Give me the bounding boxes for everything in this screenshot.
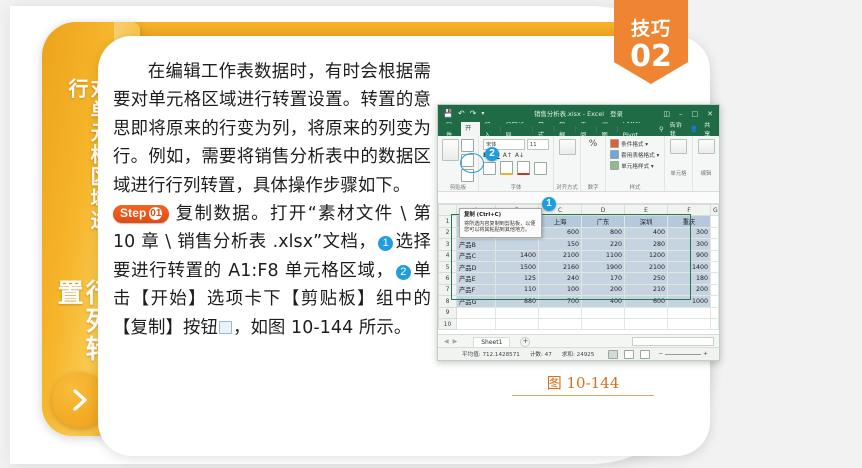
- cell-G10[interactable]: [711, 318, 719, 329]
- col-header-F[interactable]: F: [668, 205, 711, 216]
- cell-A10[interactable]: [457, 318, 496, 329]
- cell-G7[interactable]: [711, 284, 719, 295]
- step-badge-number: 01: [149, 207, 162, 220]
- cell-G9[interactable]: [711, 307, 719, 318]
- cell-C2[interactable]: 600: [539, 227, 582, 238]
- tip-number: 02: [614, 42, 688, 72]
- cell-C4[interactable]: 2100: [539, 250, 582, 261]
- excel-document-title: 销售分析表.xlsx - Excel 登录: [438, 109, 719, 118]
- intro-paragraph: 在编辑工作表数据时，有时会根据需要对单元格区域进行转置设置。转置的意思即将原来的…: [113, 58, 431, 200]
- col-header-D[interactable]: D: [582, 205, 625, 216]
- cell-C1[interactable]: 上海: [539, 216, 582, 227]
- cell-E9[interactable]: [625, 307, 668, 318]
- cell-D2[interactable]: 800: [582, 227, 625, 238]
- decrease-font-icon[interactable]: A↓: [515, 152, 524, 159]
- row-header-7[interactable]: 7: [439, 284, 457, 295]
- cell-D5[interactable]: 1900: [582, 261, 625, 272]
- excel-title-bar: 💾 ↶ ↷ ▾ 销售分析表.xlsx - Excel 登录 ◫ – □ ✕: [438, 105, 719, 122]
- cell-D8[interactable]: 400: [582, 296, 625, 307]
- step-marker-2: 2: [396, 265, 411, 280]
- ribbon-group-clipboard-label: 剪贴板: [438, 183, 478, 191]
- table-row[interactable]: 6 产品E 125 240 170 250 180: [439, 273, 719, 284]
- editing-icon[interactable]: [698, 139, 715, 154]
- tooltip-title: 复制 (Ctrl+C): [464, 212, 537, 219]
- share-icon: 👤: [690, 125, 698, 133]
- cell-A7[interactable]: 产品F: [457, 284, 496, 295]
- article-body: 在编辑工作表数据时，有时会根据需要对单元格区域进行转置设置。转置的意思即将原来的…: [113, 58, 431, 342]
- horizontal-scrollbar[interactable]: [632, 337, 714, 346]
- cell-B7[interactable]: 110: [496, 284, 539, 295]
- table-row[interactable]: 9: [439, 307, 719, 318]
- cell-B10[interactable]: [496, 318, 539, 329]
- cell-F8[interactable]: 1000: [668, 296, 711, 307]
- format-as-table-icon: [610, 150, 619, 159]
- excel-signin-label[interactable]: 登录: [610, 110, 623, 118]
- cell-E5[interactable]: 2100: [625, 261, 668, 272]
- tip-label: 技巧: [614, 14, 688, 41]
- copy-button-highlight-ring: [460, 153, 484, 173]
- zoom-track[interactable]: [665, 354, 701, 355]
- figure-caption-text: 图 10-144: [547, 374, 620, 392]
- font-color-icon[interactable]: [517, 161, 530, 175]
- step-paragraph: Step01复制数据。打开“素材文件 \ 第 10 章 \ 销售分析表 .xls…: [113, 200, 431, 342]
- cut-icon[interactable]: [461, 139, 474, 152]
- cell-D3[interactable]: 220: [582, 239, 625, 250]
- ribbon-group-cells-label: 单元格: [665, 169, 692, 177]
- cell-G1[interactable]: [711, 216, 719, 227]
- col-header-G[interactable]: G: [711, 205, 719, 216]
- callout-2: 2: [485, 147, 499, 161]
- ribbon-tab-strip[interactable]: 文件 开始 插入 | 页面布局 | 公式 | 数据 | 审阅 | 视图 | Po…: [438, 122, 719, 136]
- page-layout-icon[interactable]: [624, 350, 634, 359]
- formula-bar[interactable]: [438, 192, 719, 204]
- cell-B8[interactable]: 880: [496, 296, 539, 307]
- increase-font-icon[interactable]: A↑: [503, 152, 512, 159]
- cell-F6[interactable]: 180: [668, 273, 711, 284]
- cell-C7[interactable]: 100: [539, 284, 582, 295]
- cell-E10[interactable]: [625, 318, 668, 329]
- cell-A8[interactable]: 产品G: [457, 296, 496, 307]
- cell-E3[interactable]: 280: [625, 239, 668, 250]
- cell-F2[interactable]: 300: [668, 227, 711, 238]
- row-header-4[interactable]: 4: [439, 250, 457, 261]
- row-header-8[interactable]: 8: [439, 296, 457, 307]
- row-header-6[interactable]: 6: [439, 273, 457, 284]
- ribbon-group-editing: 编辑: [693, 136, 719, 191]
- phonetic-icon[interactable]: [534, 162, 547, 175]
- cell-B9[interactable]: [496, 307, 539, 318]
- cell-G8[interactable]: [711, 296, 719, 307]
- cell-C8[interactable]: 700: [539, 296, 582, 307]
- sheet-tab-sheet1[interactable]: Sheet1: [473, 337, 510, 347]
- step-badge-text: Step: [120, 206, 146, 220]
- table-row[interactable]: 10: [439, 318, 719, 329]
- cell-G3[interactable]: [711, 239, 719, 250]
- table-row[interactable]: 5 产品D 1500 2160 1900 2100 1400: [439, 261, 719, 272]
- status-sum: 求和: 24925: [552, 350, 595, 358]
- cell-A6[interactable]: 产品E: [457, 273, 496, 284]
- tooltip-text: 将所选内容复制到剪贴板，以便您可以将其粘贴到其他地方。: [464, 221, 537, 234]
- cell-A4[interactable]: 产品C: [457, 250, 496, 261]
- cell-A5[interactable]: 产品D: [457, 261, 496, 272]
- row-header-2[interactable]: 2: [439, 227, 457, 238]
- tab-home[interactable]: 开始: [461, 122, 480, 136]
- normal-view-icon[interactable]: [608, 350, 618, 359]
- status-count: 计数: 47: [520, 350, 552, 358]
- select-all-corner[interactable]: [439, 205, 457, 216]
- ribbon-group-cells: 单元格: [665, 136, 693, 191]
- cell-D7[interactable]: 200: [582, 284, 625, 295]
- cell-D9[interactable]: [582, 307, 625, 318]
- tell-me-icon: ⚲: [659, 126, 664, 133]
- col-header-E[interactable]: E: [625, 205, 668, 216]
- cell-D10[interactable]: [582, 318, 625, 329]
- ribbon-group-font: 宋体 11 B I U A↑ A↓: [479, 136, 554, 191]
- cell-G6[interactable]: [711, 273, 719, 284]
- ribbon-group-alignment: 对齐方式: [554, 136, 581, 191]
- step-badge: Step01: [113, 205, 169, 223]
- conditional-formatting-button[interactable]: 条件格式 ▾: [610, 139, 660, 148]
- cell-G5[interactable]: [711, 261, 719, 272]
- cell-styles-button[interactable]: 单元格样式 ▾: [610, 161, 660, 170]
- table-row[interactable]: 8 产品G 880 700 400 600 1000: [439, 296, 719, 307]
- ribbon-group-alignment-label: 对齐方式: [554, 183, 580, 191]
- ribbon-group-styles-label: 样式: [606, 183, 664, 191]
- cell-E6[interactable]: 250: [625, 273, 668, 284]
- chevron-right-icon: [69, 388, 91, 412]
- cell-B4[interactable]: 1400: [496, 250, 539, 261]
- copy-tooltip: 复制 (Ctrl+C) 将所选内容复制到剪贴板，以便您可以将其粘贴到其他地方。: [459, 208, 542, 238]
- ribbon-group-styles: 条件格式 ▾ 套用表格格式 ▾ 单元格样式 ▾ 样式: [606, 136, 665, 191]
- table-row[interactable]: 3 产品B 150 220 280 300: [439, 239, 719, 250]
- cell-C9[interactable]: [539, 307, 582, 318]
- cell-F9[interactable]: [668, 307, 711, 318]
- ribbon-group-number: % 数字: [581, 136, 606, 191]
- sheet-nav-next-icon[interactable]: ▶: [449, 338, 458, 345]
- cell-B6[interactable]: 125: [496, 273, 539, 284]
- borders-icon[interactable]: [483, 162, 496, 175]
- cell-B3[interactable]: [496, 239, 539, 250]
- cell-F7[interactable]: 200: [668, 284, 711, 295]
- percent-style-icon[interactable]: %: [589, 139, 598, 149]
- cell-F4[interactable]: 900: [668, 250, 711, 261]
- cell-A9[interactable]: [457, 307, 496, 318]
- table-row[interactable]: 7 产品F 110 100 200 210 200: [439, 284, 719, 295]
- excel-window-screenshot: 💾 ↶ ↷ ▾ 销售分析表.xlsx - Excel 登录 ◫ – □ ✕ 文件…: [437, 104, 720, 361]
- zoom-slider[interactable]: − +: [658, 351, 707, 357]
- cell-C10[interactable]: [539, 318, 582, 329]
- cell-F1[interactable]: 重庆: [668, 216, 711, 227]
- row-header-5[interactable]: 5: [439, 261, 457, 272]
- ribbon-group-number-label: 数字: [581, 183, 605, 191]
- cell-styles-icon: [610, 161, 619, 170]
- copy-icon: [219, 321, 232, 334]
- cell-D1[interactable]: 广东: [582, 216, 625, 227]
- worksheet-grid[interactable]: A B C D E F G 1 上海 广东 深圳 重庆: [438, 204, 719, 330]
- alignment-icon[interactable]: [559, 139, 576, 155]
- cell-C6[interactable]: 240: [539, 273, 582, 284]
- font-size-select[interactable]: 11: [527, 139, 549, 150]
- ribbon-group-editing-label: 编辑: [693, 169, 719, 177]
- cell-D6[interactable]: 170: [582, 273, 625, 284]
- status-bar: 平均值: 712.1428571 计数: 47 求和: 24925 − +: [438, 347, 719, 360]
- cell-A3[interactable]: 产品B: [457, 239, 496, 250]
- zoom-out-button[interactable]: −: [658, 351, 663, 357]
- sheet-tab-bar[interactable]: ◀ ▶ Sheet1 +: [438, 334, 719, 348]
- cell-F3[interactable]: 300: [668, 239, 711, 250]
- step-marker-1: 1: [378, 236, 393, 251]
- zoom-in-button[interactable]: +: [703, 351, 708, 357]
- cell-C5[interactable]: 2160: [539, 261, 582, 272]
- format-as-table-button[interactable]: 套用表格格式 ▾: [610, 150, 660, 159]
- cell-G2[interactable]: [711, 227, 719, 238]
- cell-E8[interactable]: 600: [625, 296, 668, 307]
- sheet-nav-prev-icon[interactable]: ◀: [438, 338, 449, 345]
- page-root: 对单元格区域进行 行列转置 技巧 02 在编辑工作表数据时，有时会根据需要对单元…: [0, 0, 862, 468]
- cells-icon[interactable]: [670, 139, 687, 154]
- table-row[interactable]: 4 产品C 1400 2100 1100 1200 900: [439, 250, 719, 261]
- caption-underline: [512, 395, 654, 396]
- excel-title-text: 销售分析表.xlsx - Excel: [534, 110, 604, 118]
- fill-color-icon[interactable]: [500, 161, 513, 175]
- row-header-10[interactable]: 10: [439, 318, 457, 329]
- row-header-9[interactable]: 9: [439, 307, 457, 318]
- cell-E7[interactable]: 210: [625, 284, 668, 295]
- cell-G4[interactable]: [711, 250, 719, 261]
- callout-1: 1: [542, 197, 556, 211]
- page-break-icon[interactable]: [640, 350, 650, 359]
- cell-D4[interactable]: 1100: [582, 250, 625, 261]
- row-header-3[interactable]: 3: [439, 239, 457, 250]
- step-text-4: ，如图 10-144 所示。: [233, 318, 411, 338]
- cell-E2[interactable]: 400: [625, 227, 668, 238]
- conditional-formatting-icon: [610, 139, 619, 148]
- row-header-1[interactable]: 1: [439, 216, 457, 227]
- figure-caption: 图 10-144: [498, 372, 668, 396]
- ribbon-group-font-label: 字体: [479, 183, 553, 191]
- cell-B5[interactable]: 1500: [496, 261, 539, 272]
- cell-F5[interactable]: 1400: [668, 261, 711, 272]
- cell-F10[interactable]: [668, 318, 711, 329]
- cell-C3[interactable]: 150: [539, 239, 582, 250]
- paste-icon[interactable]: [442, 139, 459, 161]
- cell-E4[interactable]: 1200: [625, 250, 668, 261]
- status-average: 平均值: 712.1428571: [438, 350, 520, 358]
- cell-E1[interactable]: 深圳: [625, 216, 668, 227]
- add-sheet-icon[interactable]: +: [520, 337, 530, 347]
